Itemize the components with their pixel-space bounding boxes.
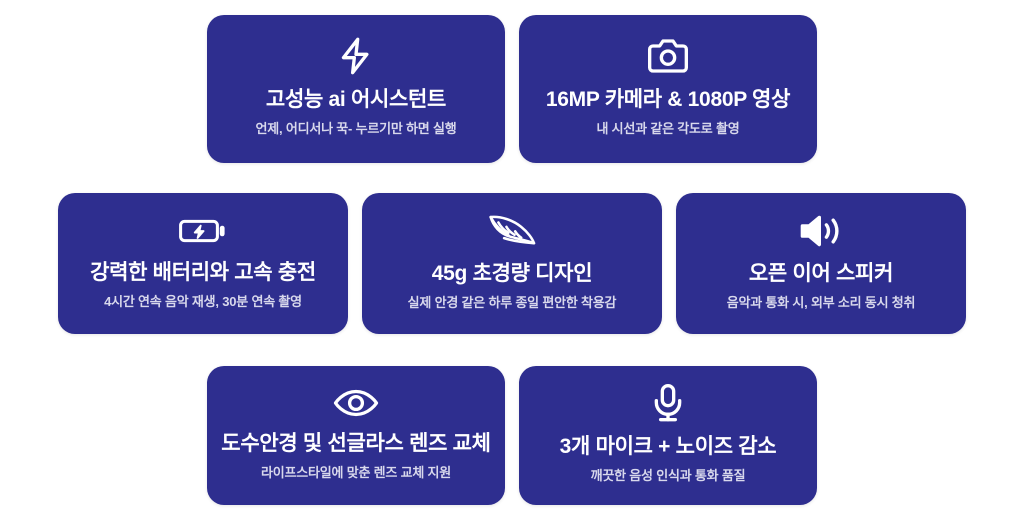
battery-charging-icon — [179, 213, 227, 249]
feature-card-lens-replacement[interactable]: 도수안경 및 선글라스 렌즈 교체 라이프스타일에 맞춘 렌즈 교체 지원 — [207, 366, 505, 505]
feature-card-subtitle: 라이프스타일에 맞춘 렌즈 교체 지원 — [261, 465, 451, 481]
feature-card-camera[interactable]: 16MP 카메라 & 1080P 영상 내 시선과 같은 각도로 촬영 — [519, 15, 817, 163]
feature-card-title: 3개 마이크 + 노이즈 감소 — [560, 434, 777, 459]
feature-card-battery[interactable]: 강력한 배터리와 고속 충전 4시간 연속 음악 재생, 30분 연속 촬영 — [58, 193, 348, 334]
feature-card-microphone[interactable]: 3개 마이크 + 노이즈 감소 깨끗한 음성 인식과 통화 품질 — [519, 366, 817, 505]
feature-card-title: 강력한 배터리와 고속 충전 — [90, 260, 316, 285]
feature-card-speaker[interactable]: 오픈 이어 스피커 음악과 통화 시, 외부 소리 동시 청취 — [676, 193, 966, 334]
feature-card-title: 도수안경 및 선글라스 렌즈 교체 — [221, 431, 490, 456]
feature-row-top: 고성능 ai 어시스턴트 언제, 어디서나 꾹- 누르기만 하면 실행 16MP… — [0, 15, 1024, 163]
feather-icon — [484, 212, 540, 250]
feature-card-ai-assistant[interactable]: 고성능 ai 어시스턴트 언제, 어디서나 꾹- 누르기만 하면 실행 — [207, 15, 505, 163]
feature-card-lightweight[interactable]: 45g 초경량 디자인 실제 안경 같은 하루 종일 편안한 착용감 — [362, 193, 662, 334]
microphone-icon — [651, 383, 685, 423]
feature-card-subtitle: 깨끗한 음성 인식과 통화 품질 — [591, 468, 746, 484]
feature-card-subtitle: 음악과 통화 시, 외부 소리 동시 청취 — [727, 295, 916, 311]
feature-row-bottom: 도수안경 및 선글라스 렌즈 교체 라이프스타일에 맞춘 렌즈 교체 지원 3개… — [0, 366, 1024, 505]
feature-row-middle: 강력한 배터리와 고속 충전 4시간 연속 음악 재생, 30분 연속 촬영 4… — [0, 193, 1024, 334]
speaker-icon — [799, 212, 843, 250]
feature-card-subtitle: 4시간 연속 음악 재생, 30분 연속 촬영 — [104, 294, 302, 310]
lightning-bolt-icon — [336, 36, 376, 76]
eye-icon — [333, 386, 379, 420]
feature-card-title: 45g 초경량 디자인 — [432, 261, 592, 286]
feature-card-title: 고성능 ai 어시스턴트 — [266, 87, 446, 112]
camera-icon — [647, 36, 689, 76]
feature-grid: 고성능 ai 어시스턴트 언제, 어디서나 꾹- 누르기만 하면 실행 16MP… — [0, 0, 1024, 521]
feature-card-subtitle: 내 시선과 같은 각도로 촬영 — [596, 121, 739, 137]
feature-card-subtitle: 실제 안경 같은 하루 종일 편안한 착용감 — [408, 295, 617, 311]
feature-card-title: 16MP 카메라 & 1080P 영상 — [546, 87, 790, 112]
feature-card-subtitle: 언제, 어디서나 꾹- 누르기만 하면 실행 — [255, 121, 456, 137]
feature-card-title: 오픈 이어 스피커 — [749, 261, 893, 286]
